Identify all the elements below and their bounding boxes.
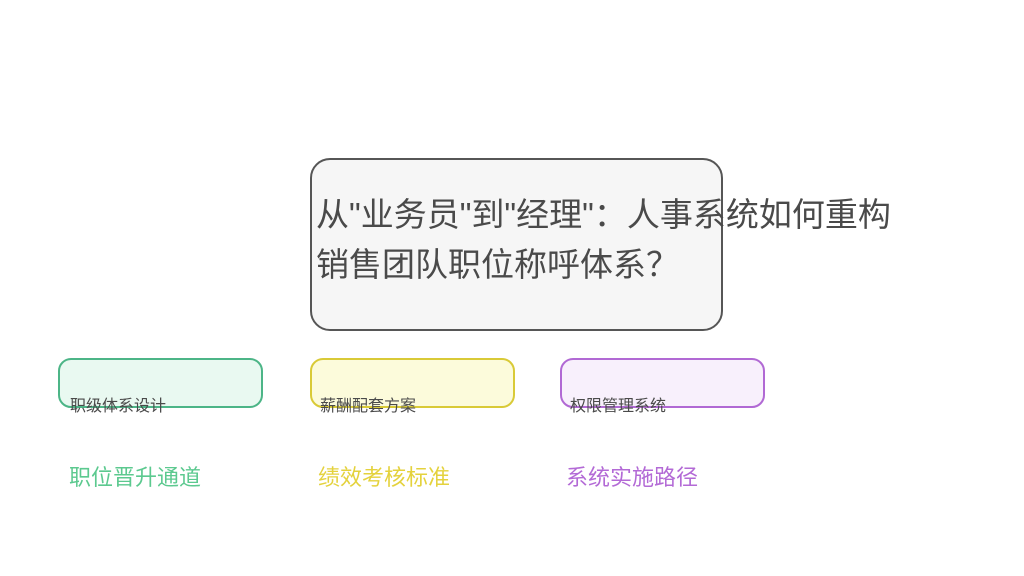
branch-label-3: 权限管理系统 xyxy=(570,396,666,418)
branch-label-1: 职级体系设计 xyxy=(70,396,166,418)
branch-label-2: 薪酬配套方案 xyxy=(320,396,416,418)
leaf-label-2: 绩效考核标准 xyxy=(318,464,450,492)
title-node-text: 从"业务员"到"经理"：人事系统如何重构 销售团队职位称呼体系？ xyxy=(316,190,1016,290)
leaf-label-3: 系统实施路径 xyxy=(566,464,698,492)
leaf-label-1: 职位晋升通道 xyxy=(69,464,201,492)
mindmap-canvas: 从"业务员"到"经理"：人事系统如何重构 销售团队职位称呼体系？ 职级体系设计 … xyxy=(0,0,1024,576)
title-line-2: 销售团队职位称呼体系？ xyxy=(316,240,1016,290)
title-line-1: 从"业务员"到"经理"：人事系统如何重构 xyxy=(316,190,1016,240)
